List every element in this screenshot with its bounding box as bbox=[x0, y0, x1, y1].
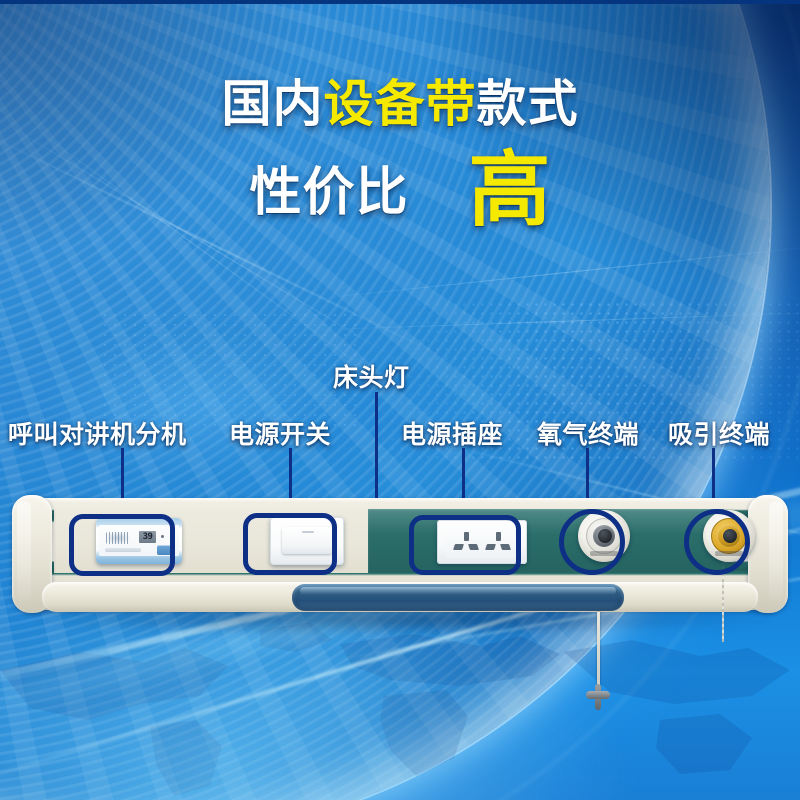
callout-label-suction: 吸引终端 bbox=[668, 415, 770, 451]
suction-tube-cord bbox=[722, 570, 724, 642]
pull-cord-handle[interactable] bbox=[586, 684, 610, 710]
callout-layer: 呼叫对讲机分机 电源开关 床头灯 电源插座 氧气终端 吸引终端 bbox=[0, 0, 800, 800]
highlight-circle-suction bbox=[684, 509, 750, 575]
callout-label-oxygen: 氧气终端 bbox=[537, 415, 639, 451]
highlight-box-socket bbox=[409, 515, 521, 575]
callout-label-intercom: 呼叫对讲机分机 bbox=[8, 415, 187, 451]
pull-cord[interactable] bbox=[597, 612, 600, 690]
highlight-box-intercom bbox=[69, 514, 175, 576]
highlight-circle-oxygen bbox=[559, 509, 625, 575]
callout-label-switch: 电源开关 bbox=[229, 415, 331, 451]
callout-label-bedlamp: 床头灯 bbox=[333, 358, 410, 394]
callout-label-socket: 电源插座 bbox=[401, 415, 503, 451]
highlight-box-switch bbox=[243, 513, 337, 575]
lamp-gloss bbox=[300, 587, 616, 595]
handle-horizontal-bar bbox=[586, 691, 610, 699]
bedside-lamp-diffuser[interactable] bbox=[292, 584, 624, 611]
promo-image-stage: 国内设备带款式 性价比高 呼叫对讲机分机 电源开关 床头灯 电源插座 氧气终端 … bbox=[0, 0, 800, 800]
